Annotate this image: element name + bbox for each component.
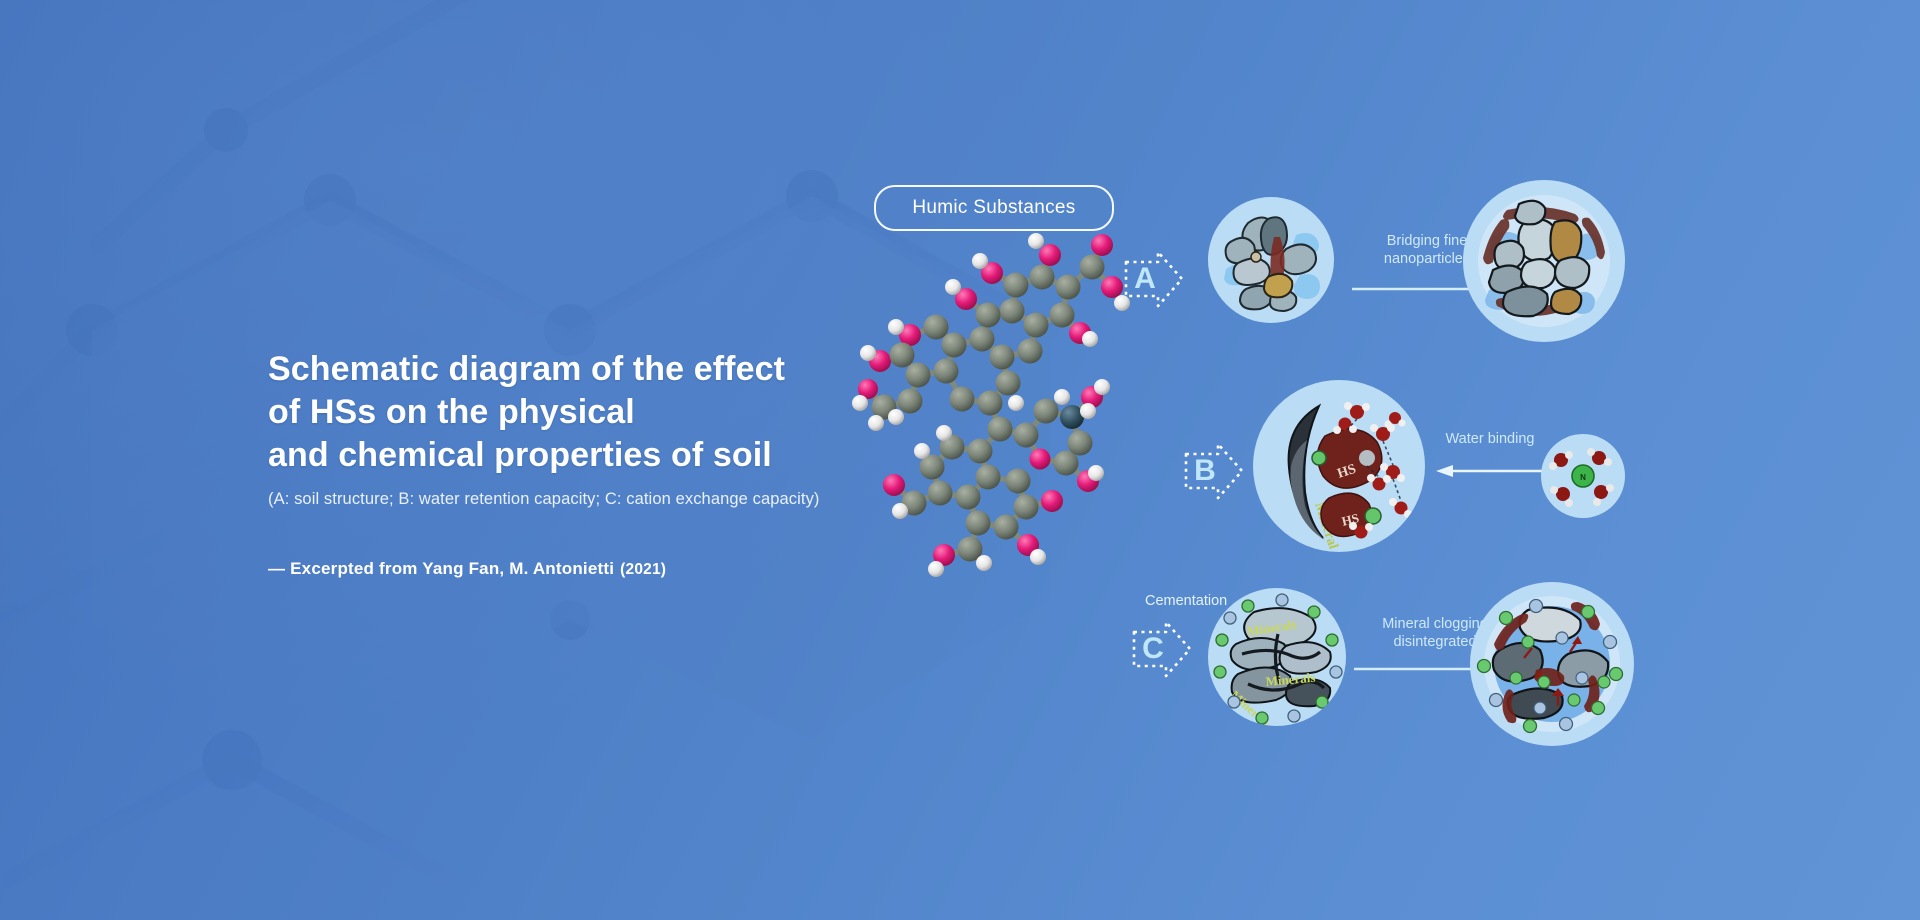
step-letter-c: C: [1136, 634, 1170, 664]
page-title-line-3: and chemical properties of soil: [268, 434, 928, 477]
attribution: — Excerpted from Yang Fan, M. Antonietti…: [268, 559, 928, 579]
cation-symbol: N: [1580, 473, 1586, 482]
transition-label-b: Water binding: [1430, 430, 1550, 448]
step-marker-c: C: [1130, 618, 1194, 680]
step-marker-a: A: [1122, 248, 1186, 310]
attribution-year: (2021): [620, 561, 666, 578]
circle-a-loose-particles: [1208, 197, 1334, 323]
humic-substances-chip: Humic Substances: [874, 185, 1114, 231]
page-subtitle: (A: soil structure; B: water retention c…: [268, 490, 928, 509]
page-title-line-2: of HSs on the physical: [268, 391, 928, 434]
cemented-minerals-art: Minerals Minerals Minerals: [1208, 588, 1346, 726]
loose-soil-particles-art: [1208, 197, 1334, 323]
humic-substances-label: Humic Substances: [912, 197, 1075, 219]
attribution-text: — Excerpted from Yang Fan, M. Antonietti: [268, 559, 614, 578]
page-title-line-1: Schematic diagram of the effect: [268, 348, 928, 391]
poster-canvas: Schematic diagram of the effect of HSs o…: [0, 0, 1920, 920]
step-marker-b: B: [1182, 440, 1246, 502]
step-letter-a: A: [1128, 264, 1162, 294]
transition-arrow-b: [1434, 462, 1554, 480]
hs-mineral-water-art: Mineral HS HS: [1253, 380, 1425, 552]
circle-c-cemented-minerals: Minerals Minerals Minerals: [1208, 588, 1346, 726]
page-title: Schematic diagram of the effect of HSs o…: [268, 348, 928, 476]
circle-b-water-retention: Mineral HS HS: [1253, 380, 1425, 552]
hydrated-cation-art: N: [1541, 434, 1625, 518]
disintegrated-minerals-art: [1470, 582, 1634, 746]
step-letter-b: B: [1188, 456, 1222, 486]
circle-b-hydrated-cation: N: [1541, 434, 1625, 518]
bridged-aggregate-art: [1463, 180, 1625, 342]
circle-a-bridged-aggregate: [1463, 180, 1625, 342]
left-text-panel: Schematic diagram of the effect of HSs o…: [268, 348, 928, 579]
circle-c-disintegrated-minerals: [1470, 582, 1634, 746]
pre-label-c-cementation: Cementation: [1145, 592, 1227, 610]
